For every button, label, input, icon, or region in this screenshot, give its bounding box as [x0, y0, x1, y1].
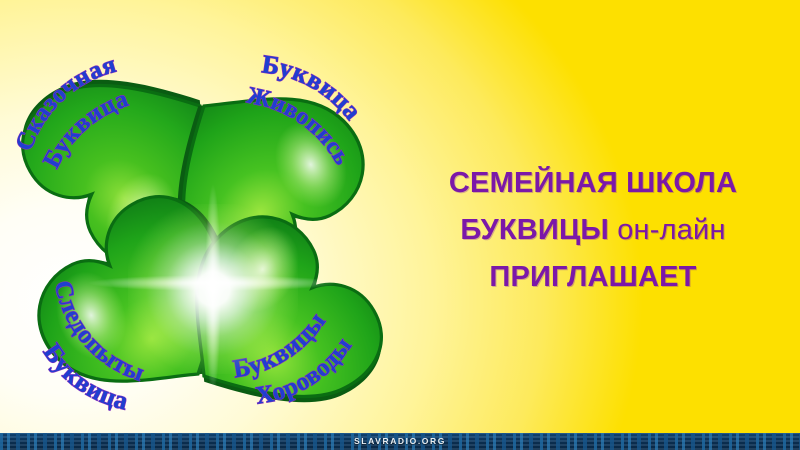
headline-line-2: БУКВИЦЫ он-лайн [392, 207, 794, 254]
footer-site-label: SLAVRADIO.ORG [0, 433, 800, 450]
headline-line-2-bold: БУКВИЦЫ [460, 214, 609, 246]
headline-line-2-thin: он-лайн [617, 214, 725, 246]
headline-line-1: СЕМЕЙНАЯ ШКОЛА [392, 160, 794, 207]
clover-svg: Сказочная Буквица Буквица Живопись Букви… [10, 44, 400, 434]
headline: СЕМЕЙНАЯ ШКОЛА БУКВИЦЫ он-лайн ПРИГЛАШАЕ… [392, 160, 794, 301]
promo-slide: Сказочная Буквица Буквица Живопись Букви… [0, 0, 800, 450]
four-leaf-clover-graphic: Сказочная Буквица Буквица Живопись Букви… [10, 44, 400, 434]
footer-band: SLAVRADIO.ORG [0, 433, 800, 450]
headline-line-3: ПРИГЛАШАЕТ [392, 254, 794, 301]
